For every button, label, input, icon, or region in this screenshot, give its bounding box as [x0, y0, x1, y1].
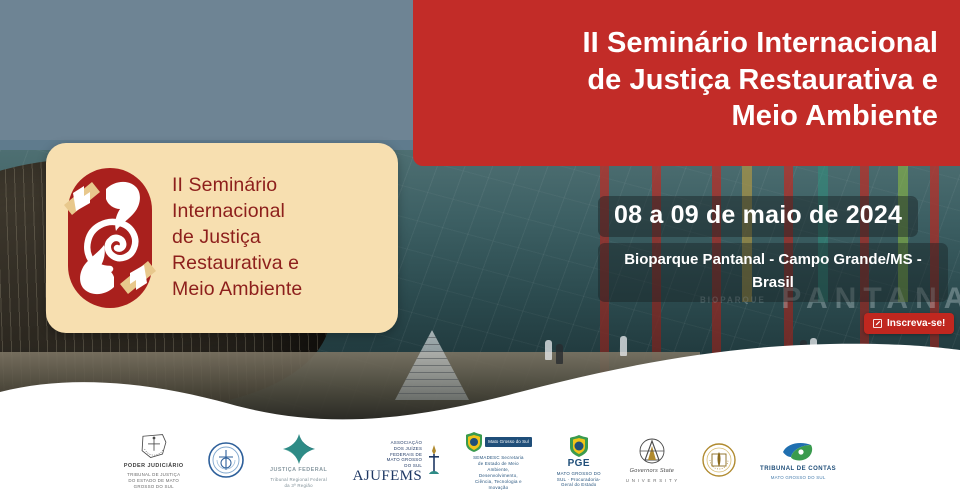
sponsor-caption: TRIBUNAL DE CONTAS [760, 465, 836, 473]
justica-federal-icon [282, 433, 316, 465]
sponsor-subcaption: U N I V E R S I T Y [626, 478, 678, 484]
sponsor-caption: JUSTIÇA FEDERAL [270, 467, 327, 474]
sponsor-poder-judiciario: PODER JUDICIÁRIO TRIBUNAL DE JUSTIÇA DO … [124, 432, 184, 490]
title-line-2: de Justiça Restaurativa e [587, 64, 938, 96]
title-line-1: II Seminário Internacional [582, 27, 938, 59]
sponsor-governo-ms: Mato Grosso do Sul SEMADESC Secretaria d… [465, 432, 532, 490]
title-line-3: Meio Ambiente [732, 100, 938, 132]
sponsor-justica-federal: JUSTIÇA FEDERAL Tribunal Regional Federa… [268, 432, 330, 490]
event-banner: BIOPARQUE PANTANAL II Seminário Internac… [0, 0, 960, 500]
edit-pencil-icon [873, 319, 882, 328]
logo-text-line-3: de Justiça [172, 226, 261, 248]
gold-seal-icon [701, 442, 737, 478]
sponsor-logo-strip: PODER JUDICIÁRIO TRIBUNAL DE JUSTIÇA DO … [0, 430, 960, 492]
event-venue-box: Bioparque Pantanal - Campo Grande/MS - B… [598, 243, 948, 302]
sponsor-governors-state-university: Governors State U N I V E R S I T Y [626, 432, 678, 490]
sponsor-caption: PGE [568, 459, 590, 469]
sponsor-subcaption: SEMADESC Secretaria de Estado de Meio Am… [472, 455, 524, 491]
logo-card-text: II Seminário Internacional de Justiça Re… [172, 173, 302, 303]
event-logo-card: II Seminário Internacional de Justiça Re… [46, 143, 398, 333]
pge-shield-icon [569, 434, 589, 458]
register-button[interactable]: Inscreva-se! [864, 313, 954, 334]
governo-ms-shield-icon [465, 431, 483, 453]
sponsor-subcaption: ASSOCIAÇÃO DOS JUÍZES FEDERAIS DE MATO G… [382, 440, 422, 470]
logo-text-line-5: Meio Ambiente [172, 278, 302, 300]
title-panel: II Seminário Internacional de Justiça Re… [413, 0, 960, 166]
tribunal-de-contas-icon [781, 441, 815, 463]
sponsor-caption: AJUFEMS [353, 469, 423, 484]
sponsor-caption: PODER JUDICIÁRIO [124, 463, 184, 470]
event-venue: Bioparque Pantanal - Campo Grande/MS - B… [624, 251, 922, 291]
poder-judiciario-icon [134, 432, 174, 461]
register-button-label: Inscreva-se! [887, 318, 945, 329]
sponsor-subcaption: MATO GROSSO DO SUL · Procuradoria-Geral … [555, 471, 603, 489]
sponsor-pge-ms: PGE MATO GROSSO DO SUL · Procuradoria-Ge… [555, 432, 603, 490]
logo-text-line-2: Internacional [172, 200, 285, 222]
logo-text-line-4: Restaurativa e [172, 252, 299, 274]
event-date: 08 a 09 de maio de 2024 [614, 201, 902, 229]
tribunal-seal-icon [207, 441, 245, 479]
event-date-box: 08 a 09 de maio de 2024 [598, 196, 918, 237]
page-title: II Seminário Internacional de Justiça Re… [562, 25, 960, 141]
sponsor-ajufems: ASSOCIAÇÃO DOS JUÍZES FEDERAIS DE MATO G… [353, 432, 443, 490]
sponsor-subcaption: MATO GROSSO DO SUL [771, 475, 826, 481]
sponsor-subcaption: Tribunal Regional Federal da 3ª Região [268, 477, 330, 489]
sponsor-caption: Mato Grosso do Sul [485, 437, 532, 447]
sponsor-tribunal-seal [207, 432, 245, 490]
logo-text-line-1: II Seminário [172, 174, 277, 196]
spiral-hands-emblem [62, 165, 158, 311]
sponsor-tribunal-de-contas: TRIBUNAL DE CONTAS MATO GROSSO DO SUL [760, 432, 836, 490]
sponsor-caption: Governors State [630, 468, 674, 476]
sponsor-gold-seal [701, 432, 737, 490]
governors-state-icon [637, 438, 667, 466]
ajufems-sword-icon [426, 444, 442, 478]
sponsor-subcaption: TRIBUNAL DE JUSTIÇA DO ESTADO DE MATO GR… [126, 472, 182, 490]
